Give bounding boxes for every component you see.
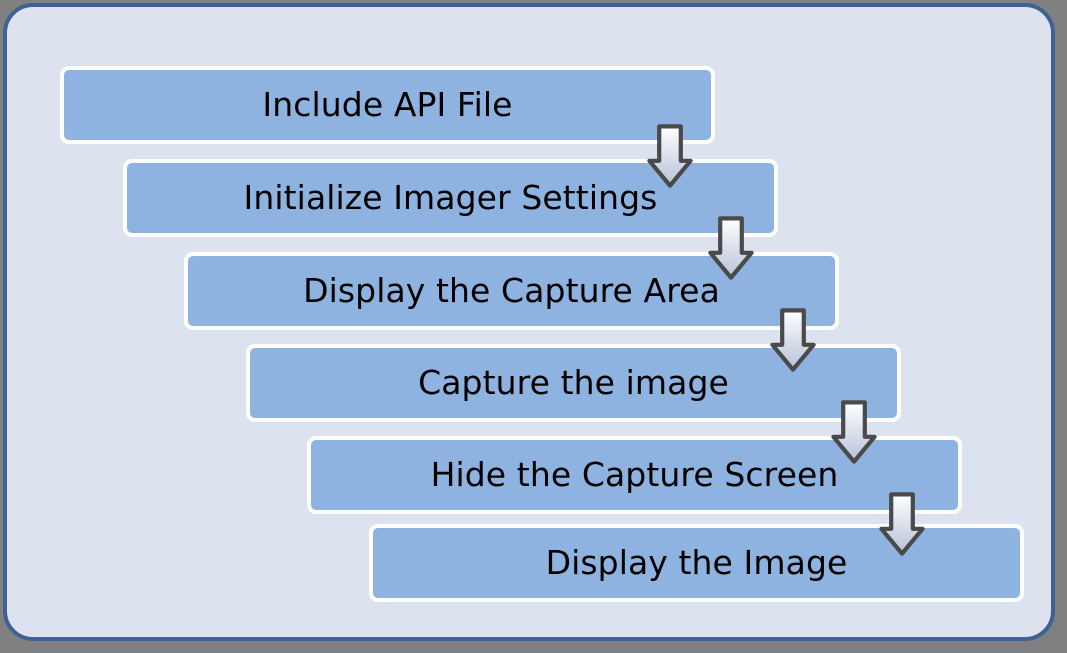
step-box-6[interactable]: Display the Image bbox=[369, 524, 1024, 602]
step-box-2[interactable]: Initialize Imager Settings bbox=[123, 159, 778, 237]
step-box-1[interactable]: Include API File bbox=[60, 66, 715, 144]
step-label-5: Hide the Capture Screen bbox=[431, 457, 839, 493]
step-label-1: Include API File bbox=[262, 87, 512, 123]
diagram-panel: Include API File Initialize Imager Setti… bbox=[3, 3, 1055, 641]
step-label-2: Initialize Imager Settings bbox=[244, 180, 658, 216]
step-label-6: Display the Image bbox=[546, 545, 848, 581]
step-box-5[interactable]: Hide the Capture Screen bbox=[307, 436, 962, 514]
step-box-3[interactable]: Display the Capture Area bbox=[184, 252, 839, 330]
step-label-4: Capture the image bbox=[418, 365, 729, 401]
step-box-4[interactable]: Capture the image bbox=[246, 344, 901, 422]
diagram-canvas: Include API File Initialize Imager Setti… bbox=[0, 0, 1067, 653]
step-label-3: Display the Capture Area bbox=[303, 273, 720, 309]
